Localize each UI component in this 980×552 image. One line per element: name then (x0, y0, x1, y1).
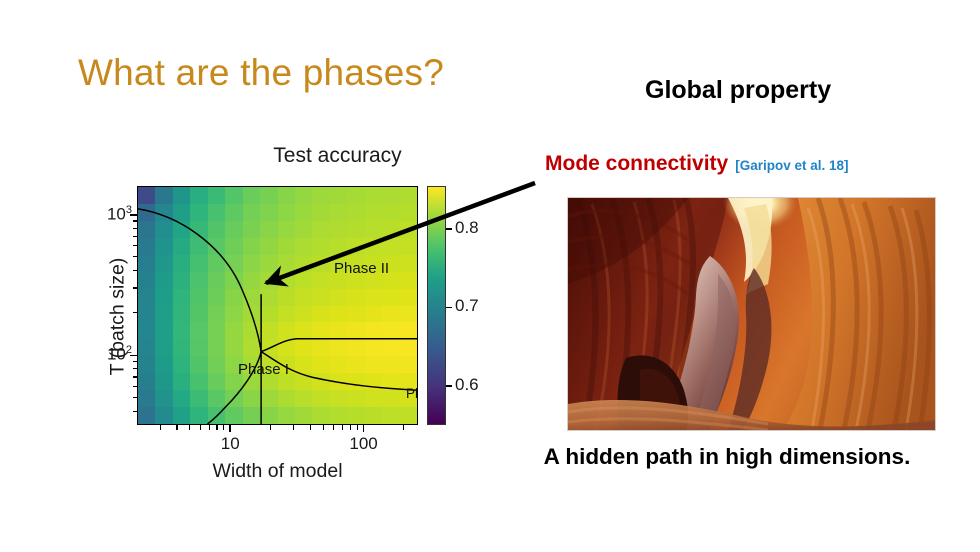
phase-boundary-overlay (138, 187, 417, 424)
x-tick-minor-80 (350, 425, 351, 430)
x-tick-minor-200 (403, 425, 404, 430)
y-tick-label-1e3: 103 (82, 204, 132, 225)
x-tick-major-100 (363, 425, 365, 432)
x-tick-label-10: 10 (200, 434, 260, 454)
slide: What are the phases? Test accuracy T (ba… (0, 0, 980, 552)
slide-caption: A hidden path in high dimensions. (492, 444, 962, 470)
x-tick-minor-8 (216, 425, 217, 430)
phase-ii-label: Phase II (334, 260, 389, 277)
x-tick-minor-5 (189, 425, 190, 430)
x-tick-minor-60 (333, 425, 334, 430)
x-tick-major-10 (229, 425, 231, 432)
x-tick-minor-30 (293, 425, 294, 430)
x-tick-minor-3 (160, 425, 161, 430)
mode-connectivity-label: Mode connectivity (545, 152, 728, 176)
x-tick-label-100: 100 (334, 434, 394, 454)
y-tick-label-1e2: 102 (82, 344, 132, 365)
colorbar-tick-label-0.6: 0.6 (455, 375, 479, 395)
phase-i-label: Phase I (238, 361, 289, 378)
slot-canyon-photo (568, 198, 935, 430)
x-tick-minor-7 (209, 425, 210, 430)
colorbar-tick-label-0.7: 0.7 (455, 296, 479, 316)
y-tick-major-100 (130, 355, 137, 357)
x-tick-minor-50 (323, 425, 324, 430)
x-tick-minor-6 (200, 425, 201, 430)
colorbar-tick-0.7 (446, 307, 452, 309)
x-tick-minor-20 (270, 425, 271, 430)
x-tick-minor-9 (223, 425, 224, 430)
x-tick-minor-40 (310, 425, 311, 430)
x-tick-minor-4 (176, 425, 177, 430)
citation-label: [Garipov et al. 18] (735, 158, 848, 173)
phase-diagram-figure: Test accuracy T (batch size) 102 103 (60, 130, 540, 490)
colorbar-tick-label-0.8: 0.8 (455, 218, 479, 238)
heatmap-axes: Phase II Phase I Phase IV-A Phase IV-B P… (137, 186, 418, 425)
page-title: What are the phases? (78, 52, 444, 94)
colorbar-tick-0.8 (446, 228, 452, 230)
x-tick-minor-70 (342, 425, 343, 430)
x-axis-label: Width of model (137, 460, 418, 483)
x-tick-minor-90 (357, 425, 358, 430)
colorbar (427, 186, 446, 425)
phase-iv-b-label: Phase IV-B (406, 386, 418, 401)
y-axis-label: T (batch size) (107, 197, 130, 437)
global-property-heading: Global property (645, 76, 831, 105)
chart-title: Test accuracy (197, 144, 478, 168)
y-tick-major-1000 (130, 214, 137, 216)
mode-connectivity-row: Mode connectivity [Garipov et al. 18] (545, 152, 849, 176)
colorbar-tick-0.6 (446, 385, 452, 387)
